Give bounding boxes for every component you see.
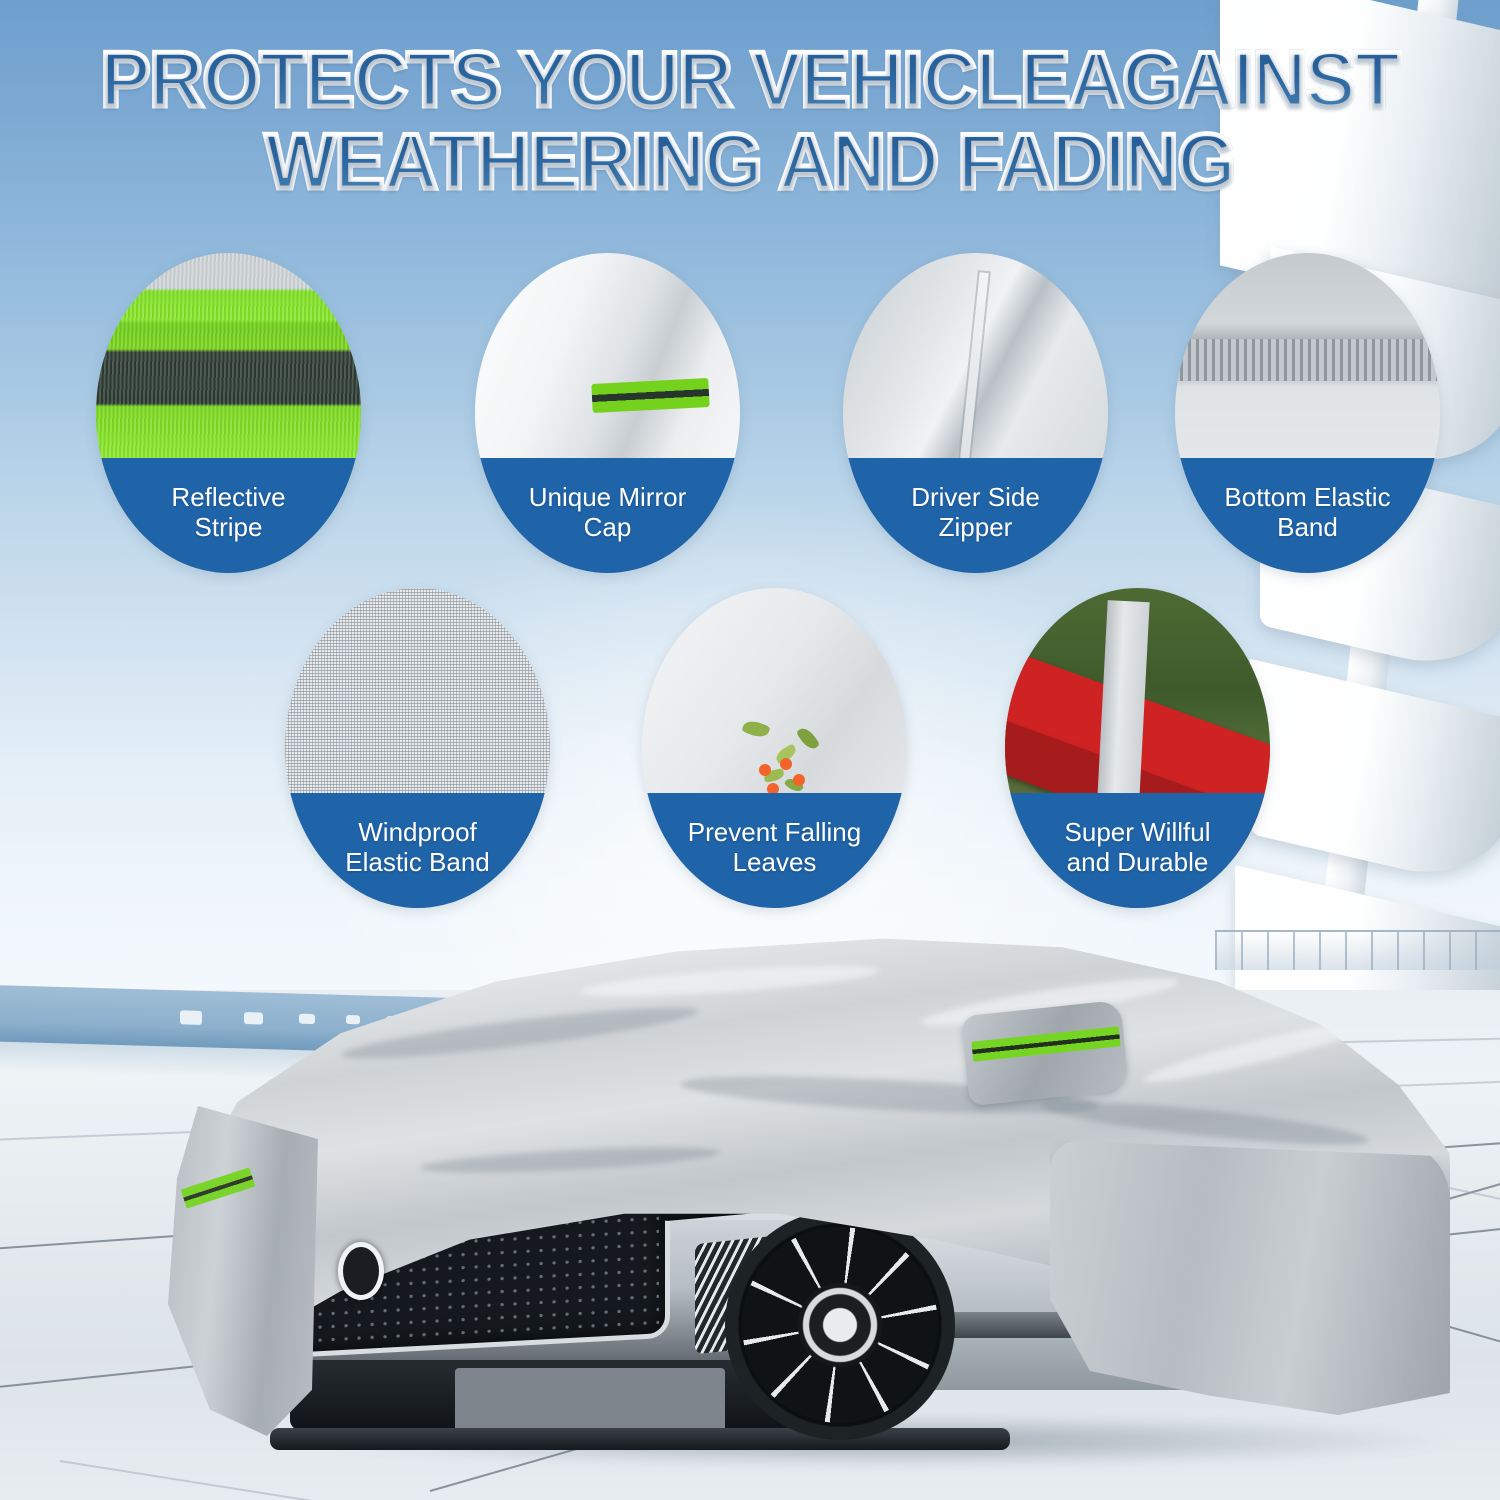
- feature-badge-bottom-elastic-band[interactable]: Bottom ElasticBand: [1175, 253, 1440, 573]
- page-title: PROTECTS YOUR VEHICLEAGAINST WEATHERING …: [30, 38, 1470, 202]
- cover-fold: [580, 960, 881, 1003]
- feature-label-super-willful-and-durable: Super Willfuland Durable: [1005, 793, 1270, 908]
- covered-vehicle: [130, 920, 1460, 1480]
- cover-fold: [340, 998, 700, 1068]
- headline-line-2: WEATHERING AND FADING: [30, 120, 1470, 202]
- leaf: [795, 725, 819, 752]
- feature-badge-windproof-elastic-band[interactable]: WindproofElastic Band: [285, 588, 550, 908]
- car-front-splitter: [270, 1428, 1010, 1450]
- car-emblem: [338, 1242, 384, 1300]
- leaf: [741, 718, 770, 740]
- front-alloy-rim: [751, 1236, 929, 1414]
- feature-badge-prevent-falling-leaves[interactable]: Prevent FallingLeaves: [642, 588, 907, 908]
- car-cover-rear-skirt: [1050, 1140, 1450, 1415]
- feature-badge-driver-side-zipper[interactable]: Driver SideZipper: [843, 253, 1108, 573]
- feature-badge-grid: ReflectiveStripe Unique MirrorCap Driver…: [0, 245, 1500, 925]
- feature-label-windproof-elastic-band: WindproofElastic Band: [285, 793, 550, 908]
- feature-badge-unique-mirror-cap[interactable]: Unique MirrorCap: [475, 253, 740, 573]
- berry: [780, 758, 792, 770]
- cover-fold: [1141, 1011, 1379, 1090]
- headline-line-1: PROTECTS YOUR VEHICLEAGAINST: [30, 38, 1470, 120]
- cover-fold: [420, 1142, 721, 1178]
- berry: [759, 764, 771, 776]
- feature-label-unique-mirror-cap: Unique MirrorCap: [475, 458, 740, 573]
- front-wheel: [725, 1210, 955, 1440]
- feature-label-driver-side-zipper: Driver SideZipper: [843, 458, 1108, 573]
- berry: [793, 774, 805, 786]
- feature-label-prevent-falling-leaves: Prevent FallingLeaves: [642, 793, 907, 908]
- car-cover-front-drape: [168, 1106, 318, 1436]
- car-license-plate: [455, 1368, 725, 1434]
- feature-badge-super-willful-and-durable[interactable]: Super Willfuland Durable: [1005, 588, 1270, 908]
- feature-badge-reflective-stripe[interactable]: ReflectiveStripe: [96, 253, 361, 573]
- feature-label-reflective-stripe: ReflectiveStripe: [96, 458, 361, 573]
- cover-fold: [219, 933, 480, 1020]
- feature-label-bottom-elastic-band: Bottom ElasticBand: [1175, 458, 1440, 573]
